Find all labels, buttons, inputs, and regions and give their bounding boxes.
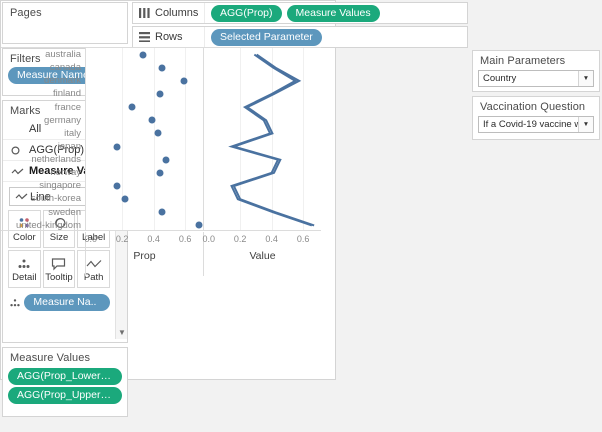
pages-card: Pages — [2, 2, 128, 44]
axis-tick: 0.2 — [234, 234, 247, 244]
row-label: italy — [1, 127, 85, 140]
chevron-down-icon[interactable]: ▼ — [578, 117, 593, 132]
axis-tick: 0.4 — [265, 234, 278, 244]
data-point[interactable] — [158, 209, 165, 216]
tableau-worksheet: Pages Filters Measure Names Marks All AG… — [0, 0, 602, 432]
columns-icon — [139, 8, 150, 18]
main-parameters-title: Main Parameters — [473, 51, 599, 69]
panel-prop[interactable] — [85, 47, 203, 231]
columns-shelf[interactable]: Columns AGG(Prop) Measure Values — [132, 2, 468, 24]
data-point[interactable] — [156, 169, 163, 176]
marks-detail-row: Measure Na.. — [3, 288, 115, 311]
data-point[interactable] — [139, 51, 146, 58]
vaccination-question-card: Vaccination Question If a Covid-19 vacci… — [472, 96, 600, 140]
rows-shelf[interactable]: Rows Selected Parameter — [132, 26, 468, 48]
data-point[interactable] — [114, 183, 121, 190]
row-label: united-kingdom — [1, 219, 85, 232]
row-label: south-korea — [1, 192, 85, 205]
data-point[interactable] — [122, 196, 129, 203]
axis-tick: 0.0 — [84, 234, 97, 244]
columns-pill-measure-values[interactable]: Measure Values — [287, 5, 380, 22]
row-label: canada — [1, 61, 85, 74]
axis-tick: 0.6 — [297, 234, 310, 244]
data-point[interactable] — [149, 117, 156, 124]
row-header: australiacanadadenmarkfinlandfrancegerma… — [1, 47, 85, 231]
axis-prop: Prop 0.00.20.40.6 — [85, 232, 203, 276]
row-label: norway — [1, 166, 85, 179]
axis-tick: 0.6 — [179, 234, 192, 244]
row-label: netherlands — [1, 153, 85, 166]
scroll-down-icon[interactable]: ▼ — [116, 326, 128, 339]
gridline — [154, 48, 155, 230]
row-label: australia — [1, 48, 85, 61]
data-point[interactable] — [128, 104, 135, 111]
rows-pill-selected-parameter[interactable]: Selected Parameter — [211, 29, 322, 46]
row-label: japan — [1, 140, 85, 153]
chevron-down-icon[interactable]: ▼ — [578, 71, 593, 86]
detail-icon — [8, 297, 24, 309]
rows-shelf-label-wrap: Rows — [133, 27, 205, 47]
row-label: finland — [1, 87, 85, 100]
line-series-group[interactable] — [204, 48, 322, 232]
columns-pill-agg-prop[interactable]: AGG(Prop) — [211, 5, 282, 22]
axis-tick: 0.2 — [116, 234, 129, 244]
main-parameters-card: Main Parameters Country ▼ — [472, 50, 600, 92]
axis-tick: 0.4 — [147, 234, 160, 244]
measure-value-pill-lower-limit[interactable]: AGG(Prop_Lower Li.. — [8, 368, 122, 385]
measure-values-title: Measure Values — [3, 348, 127, 366]
data-point[interactable] — [114, 143, 121, 150]
vaccination-question-title: Vaccination Question — [473, 97, 599, 115]
axis-value: Value 0.00.20.40.6 — [203, 232, 321, 276]
axis-value-title: Value — [204, 250, 321, 262]
gridline — [185, 48, 186, 230]
pages-title: Pages — [3, 3, 127, 21]
data-point[interactable] — [156, 91, 163, 98]
row-label: singapore — [1, 179, 85, 192]
rows-icon — [139, 32, 150, 42]
plot-area: australiacanadadenmarkfinlandfrancegerma… — [1, 47, 335, 277]
axis-tick: 0.0 — [202, 234, 215, 244]
gridline — [122, 48, 123, 230]
data-point[interactable] — [155, 130, 162, 137]
marks-detail-pill-measure-names[interactable]: Measure Na.. — [24, 294, 110, 311]
measure-values-card: Measure Values AGG(Prop_Lower Li.. AGG(P… — [2, 347, 128, 417]
data-point[interactable] — [163, 156, 170, 163]
columns-label: Columns — [155, 7, 198, 19]
row-label: sweden — [1, 206, 85, 219]
axis-prop-title: Prop — [86, 250, 203, 262]
measure-value-pill-upper-limit[interactable]: AGG(Prop_Upper Li.. — [8, 387, 122, 404]
row-label: germany — [1, 114, 85, 127]
main-parameters-select[interactable]: Country ▼ — [478, 70, 594, 87]
rows-label: Rows — [155, 31, 183, 43]
row-label: france — [1, 101, 85, 114]
vaccination-question-select[interactable]: If a Covid-19 vaccine we... ▼ — [478, 116, 594, 133]
line-series[interactable] — [234, 55, 314, 226]
columns-shelf-label-wrap: Columns — [133, 3, 205, 23]
main-parameters-value: Country — [483, 73, 516, 84]
data-point[interactable] — [180, 77, 187, 84]
data-point[interactable] — [158, 64, 165, 71]
data-point[interactable] — [196, 222, 203, 229]
row-label: denmark — [1, 74, 85, 87]
panel-value[interactable] — [203, 47, 321, 231]
